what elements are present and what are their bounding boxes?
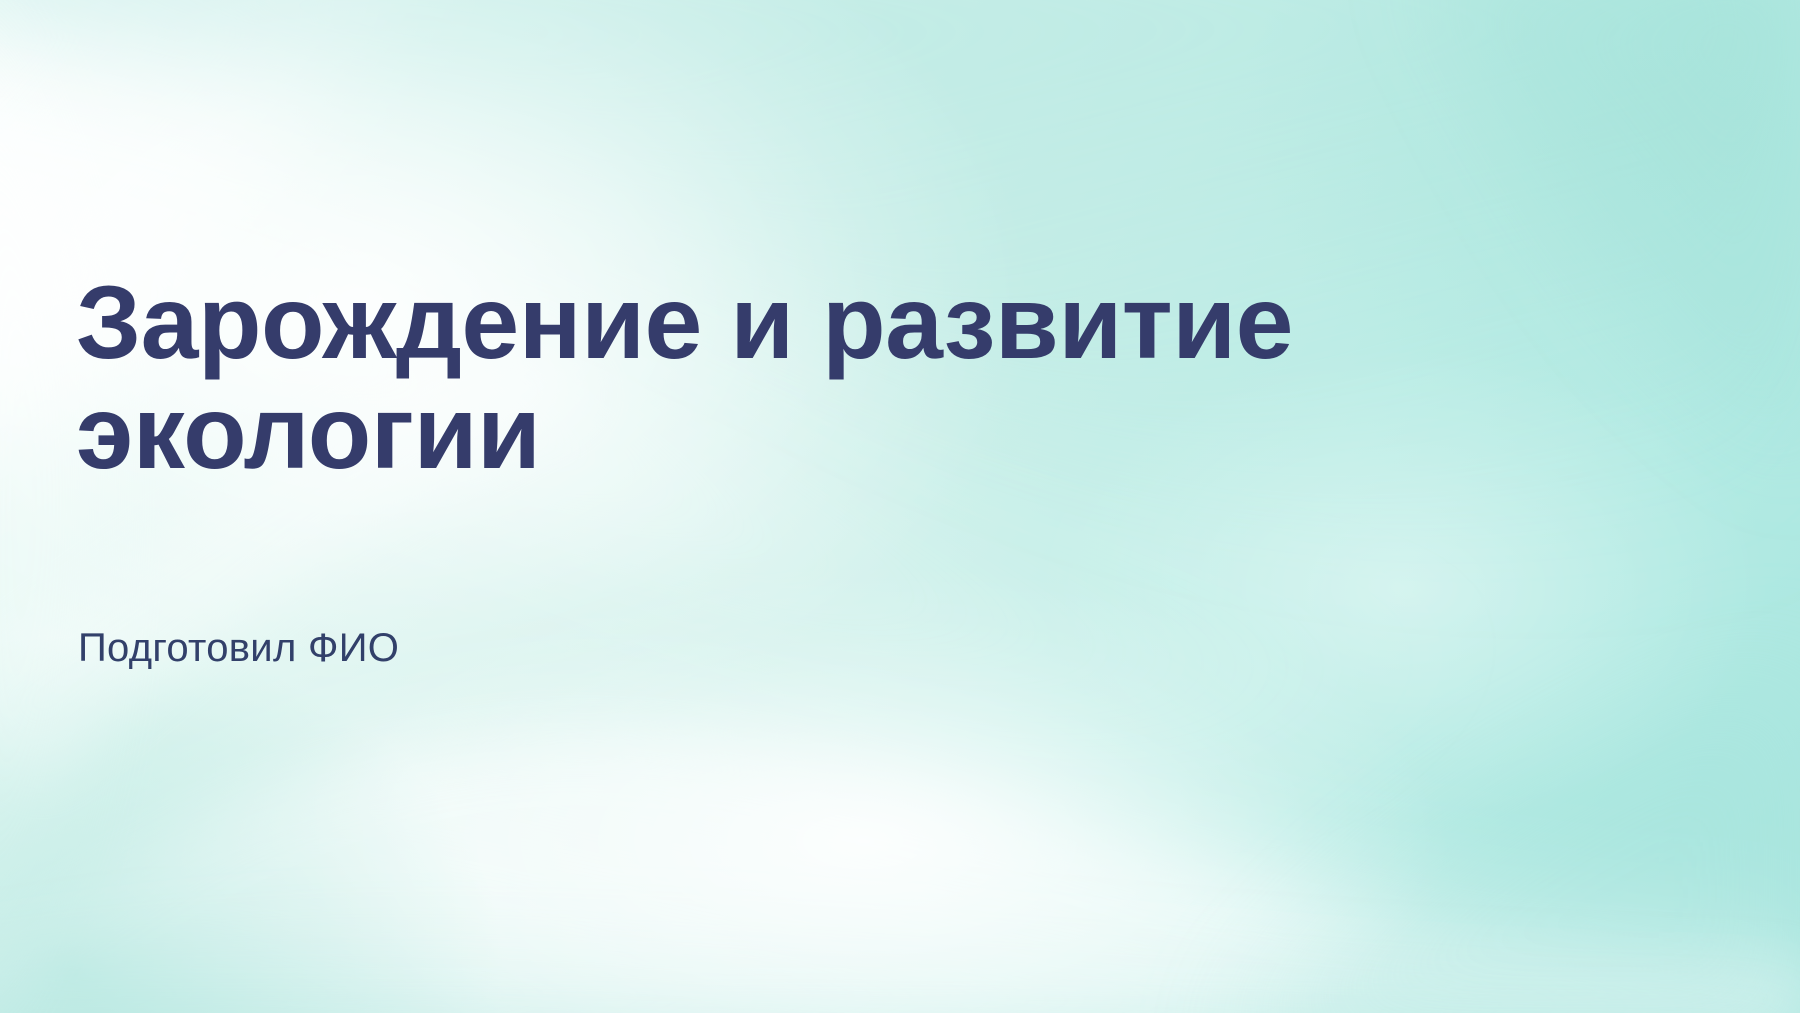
- title-slide: Зарождение и развитие экологии Подготови…: [0, 0, 1800, 1013]
- slide-title: Зарождение и развитие экологии: [76, 268, 1496, 488]
- slide-subtitle-author: Подготовил ФИО: [78, 624, 399, 672]
- slide-content: Зарождение и развитие экологии Подготови…: [76, 0, 1736, 1013]
